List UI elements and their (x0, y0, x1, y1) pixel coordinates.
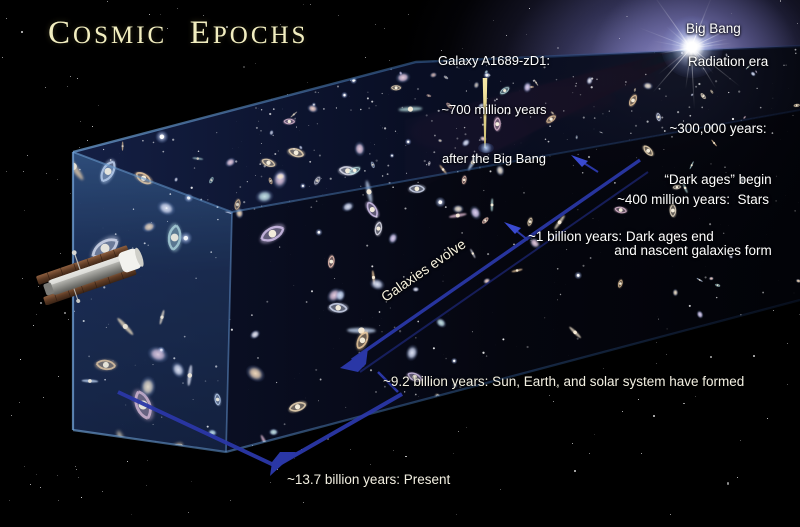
title-letter-e: E (167, 15, 213, 51)
title-pochs: POCHS (213, 22, 309, 49)
page-title: COSMIC EPOCHS (48, 15, 308, 52)
stars-form-label: ~400 million years: Stars and nascent ga… (578, 157, 800, 293)
galaxy-callout-line-3: after the Big Bang (414, 151, 574, 167)
dark-ages-end-label: ~1 billion years: Dark ages end (528, 228, 714, 245)
hubble-space-telescope (30, 243, 148, 305)
galaxies-evolve-label: Galaxies evolve (378, 236, 469, 307)
radiation-era-label: Radiation era (688, 53, 768, 70)
title-letter-c: C (48, 15, 73, 51)
solar-system-formed-label: ~9.2 billion years: Sun, Earth, and sola… (383, 373, 744, 390)
dark-ages-begin-line-1: ~300,000 years: (636, 120, 800, 137)
cosmic-epochs-illustration: COSMIC EPOCHS Galaxy A1689-zD1: ~700 mil… (0, 0, 800, 527)
title-osmic: OSMIC (73, 22, 167, 49)
present-label: ~13.7 billion years: Present (287, 471, 450, 488)
galaxy-callout-line-1: Galaxy A1689-zD1: (414, 53, 574, 69)
galaxy-a1689-zd1-callout: Galaxy A1689-zD1: ~700 million years aft… (414, 20, 574, 200)
galaxy-callout-line-2: ~700 million years (414, 102, 574, 118)
big-bang-label: Big Bang (686, 20, 741, 37)
timeline-arrows (118, 155, 648, 476)
stars-form-line-1: ~400 million years: Stars (578, 191, 800, 208)
